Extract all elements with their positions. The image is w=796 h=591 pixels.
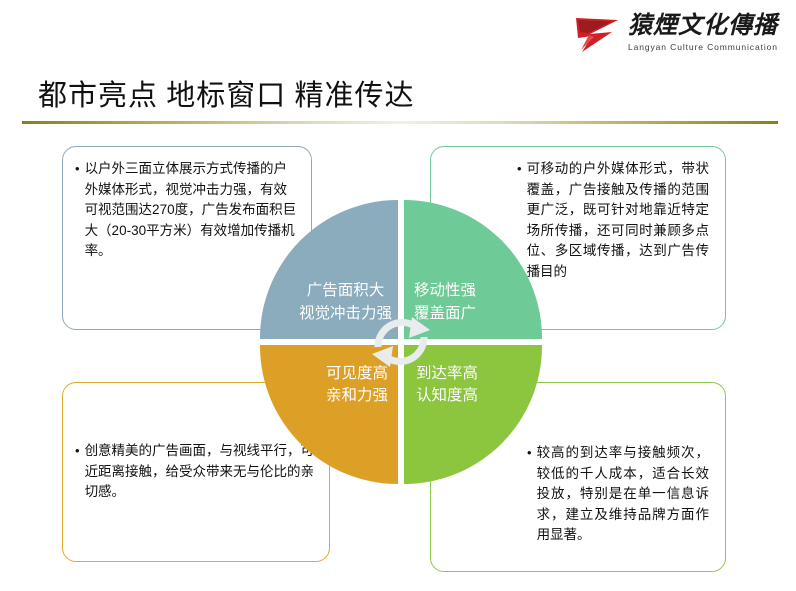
- logo-english-name: Langyan Culture Communication: [628, 42, 778, 52]
- quadrant-top-right-line1: 移动性强: [414, 280, 476, 302]
- callout-text-top-right: 可移动的户外媒体形式，带状覆盖，广告接触及传播的范围更广泛，既可针对地靠近特定场…: [527, 159, 709, 282]
- bullet-row: • 可移动的户外媒体形式，带状覆盖，广告接触及传播的范围更广泛，既可针对地靠近特…: [517, 159, 709, 282]
- quadrant-bottom-left-labels: 可见度高 亲和力强: [326, 363, 388, 408]
- title-divider: [22, 121, 778, 124]
- page-title: 都市亮点 地标窗口 精准传达: [38, 72, 415, 114]
- quadrant-bottom-right-line2: 认知度高: [416, 385, 478, 407]
- quadrant-bottom-left-line2: 亲和力强: [326, 385, 388, 407]
- logo-text-group: 猿煙文化傳播 Langyan Culture Communication: [628, 8, 778, 52]
- slide-canvas: 猿煙文化傳播 Langyan Culture Communication 都市亮…: [0, 0, 796, 591]
- logo-arrow-icon: [572, 8, 624, 60]
- quadrant-top-right-line2: 覆盖面广: [414, 303, 476, 325]
- bullet-dot: •: [517, 159, 522, 179]
- quadrant-top-left[interactable]: 广告面积大 视觉冲击力强: [260, 200, 398, 339]
- bullet-dot: •: [75, 159, 80, 179]
- quadrant-bottom-left[interactable]: 可见度高 亲和力强: [260, 345, 398, 484]
- bullet-row: • 较高的到达率与接触频次，较低的千人成本，适合长效投放，特别是在单一信息诉求，…: [527, 443, 709, 546]
- quadrant-top-left-line2: 视觉冲击力强: [299, 303, 392, 325]
- quadrant-bottom-right-labels: 到达率高 认知度高: [416, 363, 478, 408]
- callout-text-bottom-right: 较高的到达率与接触频次，较低的千人成本，适合长效投放，特别是在单一信息诉求，建立…: [537, 443, 709, 546]
- company-logo: 猿煙文化傳播 Langyan Culture Communication: [572, 8, 778, 60]
- quadrant-bottom-left-line1: 可见度高: [326, 363, 388, 385]
- logo-chinese-name: 猿煙文化傳播: [628, 14, 778, 39]
- quadrant-top-right[interactable]: 移动性强 覆盖面广: [404, 200, 542, 339]
- quadrant-circle-diagram: 广告面积大 视觉冲击力强 移动性强 覆盖面广 可见度高 亲和力强 到达率高 认知…: [260, 200, 542, 484]
- quadrant-top-left-labels: 广告面积大 视觉冲击力强: [299, 280, 392, 325]
- quadrant-bottom-right[interactable]: 到达率高 认知度高: [404, 345, 542, 484]
- quadrant-top-left-line1: 广告面积大: [299, 280, 392, 302]
- quadrant-bottom-right-line1: 到达率高: [416, 363, 478, 385]
- quadrant-top-right-labels: 移动性强 覆盖面广: [414, 280, 476, 325]
- bullet-dot: •: [75, 441, 80, 461]
